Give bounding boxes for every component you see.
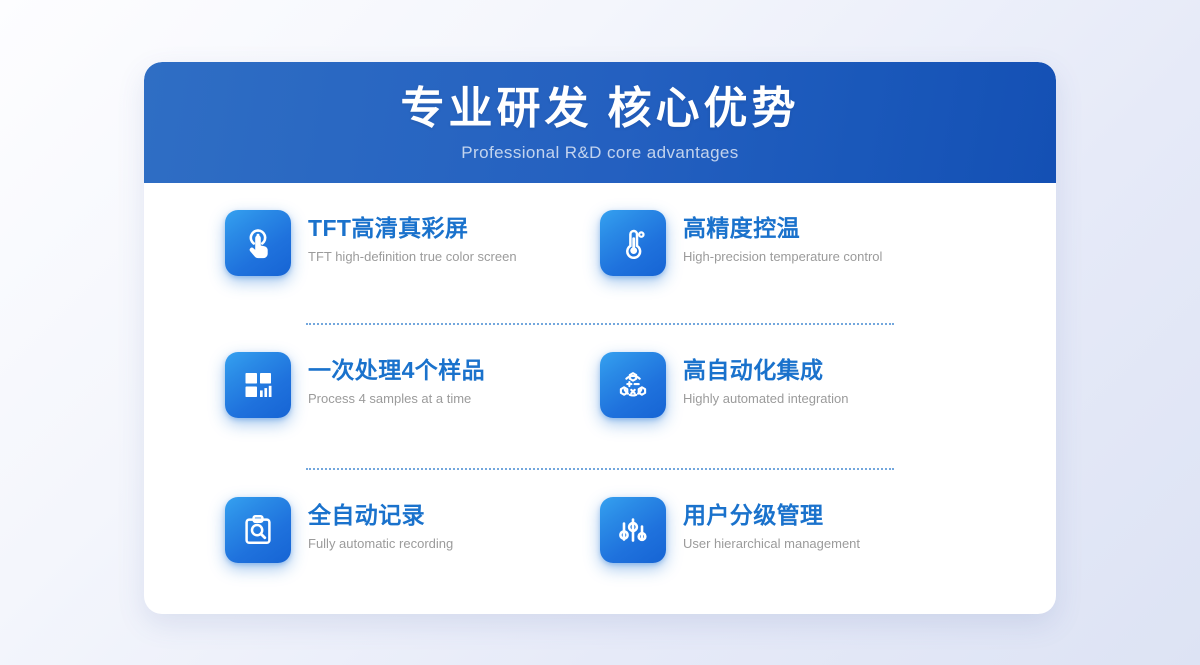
feature-subtitle: High-precision temperature control bbox=[683, 247, 882, 267]
feature-text: 全自动记录 Fully automatic recording bbox=[291, 497, 453, 554]
feature-item-auto-recording[interactable]: 全自动记录 Fully automatic recording bbox=[225, 470, 600, 563]
feature-subtitle: Process 4 samples at a time bbox=[308, 389, 485, 409]
feature-title: TFT高清真彩屏 bbox=[308, 212, 517, 244]
feature-text: 高自动化集成 Highly automated integration bbox=[666, 352, 849, 409]
feature-subtitle: Fully automatic recording bbox=[308, 534, 453, 554]
feature-row: 全自动记录 Fully automatic recording bbox=[225, 470, 975, 613]
advantages-card: 专业研发 核心优势 Professional R&D core advantag… bbox=[144, 62, 1056, 614]
feature-row: TFT高清真彩屏 TFT high-definition true color … bbox=[225, 183, 975, 323]
page-title: 专业研发 核心优势 bbox=[144, 80, 1056, 138]
feature-title: 高自动化集成 bbox=[683, 354, 849, 386]
feature-subtitle: Highly automated integration bbox=[683, 389, 849, 409]
feature-item-tft-screen[interactable]: TFT高清真彩屏 TFT high-definition true color … bbox=[225, 183, 600, 276]
feature-item-temperature-control[interactable]: 高精度控温 High-precision temperature control bbox=[600, 183, 975, 276]
feature-title: 全自动记录 bbox=[308, 499, 453, 531]
feature-item-user-management[interactable]: 用户分级管理 User hierarchical management bbox=[600, 470, 975, 563]
feature-item-automation[interactable]: 高自动化集成 Highly automated integration bbox=[600, 325, 975, 418]
touch-gesture-icon bbox=[225, 210, 291, 276]
feature-text: 高精度控温 High-precision temperature control bbox=[666, 210, 882, 267]
features-body: TFT高清真彩屏 TFT high-definition true color … bbox=[144, 183, 1056, 613]
feature-title: 一次处理4个样品 bbox=[308, 354, 485, 386]
automation-network-icon bbox=[600, 352, 666, 418]
clipboard-search-icon bbox=[225, 497, 291, 563]
feature-text: 一次处理4个样品 Process 4 samples at a time bbox=[291, 352, 485, 409]
feature-item-sample-throughput[interactable]: 一次处理4个样品 Process 4 samples at a time bbox=[225, 325, 600, 418]
card-header-banner: 专业研发 核心优势 Professional R&D core advantag… bbox=[144, 62, 1056, 183]
page-subtitle: Professional R&D core advantages bbox=[144, 140, 1056, 166]
thermometer-icon bbox=[600, 210, 666, 276]
feature-title: 用户分级管理 bbox=[683, 499, 860, 531]
feature-row: 一次处理4个样品 Process 4 samples at a time bbox=[225, 325, 975, 468]
feature-subtitle: TFT high-definition true color screen bbox=[308, 247, 517, 267]
feature-text: TFT高清真彩屏 TFT high-definition true color … bbox=[291, 210, 517, 267]
dashboard-grid-icon bbox=[225, 352, 291, 418]
feature-title: 高精度控温 bbox=[683, 212, 882, 244]
sliders-icon bbox=[600, 497, 666, 563]
feature-divider bbox=[306, 323, 894, 325]
feature-text: 用户分级管理 User hierarchical management bbox=[666, 497, 860, 554]
feature-subtitle: User hierarchical management bbox=[683, 534, 860, 554]
feature-divider bbox=[306, 468, 894, 470]
